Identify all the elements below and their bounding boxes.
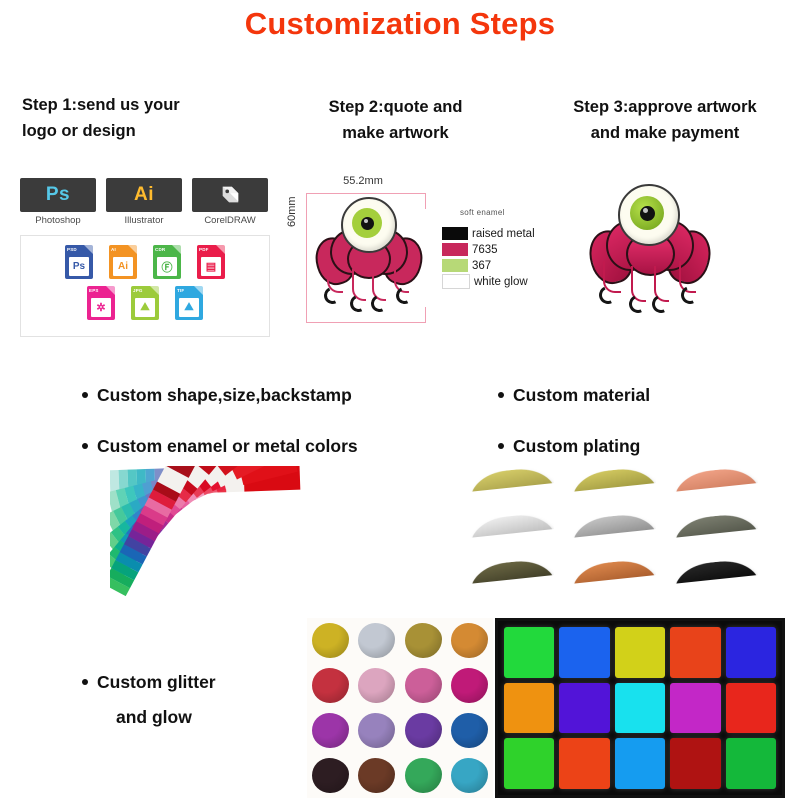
step-2-heading-line1: Step 2:quote and [329,98,463,116]
glitter-cell [400,708,447,753]
glitter-cell [354,663,401,708]
ai-tag: AI [111,247,116,252]
glitter-blob [405,623,442,658]
bullet-dot-icon [498,392,504,398]
page-title: Customization Steps [0,6,800,42]
tif-file-icon: TIF ⛰ [175,286,203,320]
psd-glyph: Ps [69,257,89,276]
plating-swatch-black-nickel [673,558,760,597]
photoshop-label: Photoshop [20,215,96,226]
glow-cell [559,738,609,789]
plating-sample-grid [470,470,770,610]
pin-eye-highlight [643,208,648,213]
glow-cell [726,683,776,734]
file-format-box: PSD Ps AI Ai CDR Ⓕ PDF ▤ [20,235,270,337]
glitter-cell [447,753,494,798]
artwork-width-label: 55.2mm [308,175,418,187]
bullet-dot-icon [82,679,88,685]
glitter-blob [451,623,488,658]
legend-row-7635: 7635 [442,242,552,257]
feature-bullet-plating: Custom plating [498,436,640,457]
pin-foot-2 [626,292,649,315]
eps-file-icon: EPS ✲ [87,286,115,320]
legend-label-white-glow: white glow [474,276,528,288]
plating-swatch-gold [469,466,556,505]
psd-tag: PSD [67,247,77,252]
glitter-blob [312,668,349,703]
glitter-cell [400,663,447,708]
legend-swatch-7635 [442,243,468,256]
feature-bullet-material: Custom material [498,385,650,406]
legend-swatch-raised-metal [442,227,468,240]
glitter-cell [307,663,354,708]
glitter-cell [307,753,354,798]
legend-swatch-white-glow [442,274,470,289]
plating-swatch-brass [571,466,658,505]
enamel-color-legend: soft enamel raised metal 7635 367 white … [442,208,552,290]
psd-fold-corner [84,245,93,254]
jpg-fold-corner [150,286,159,295]
glitter-blob [405,713,442,748]
octopus-eye-artwork [314,195,420,315]
plating-swatch-antique-gold [469,558,556,597]
bullet-dot-icon [498,443,504,449]
photoshop-glyph: Ps [46,184,70,206]
illustrator-label: Illustrator [106,215,182,226]
glitter-blob [358,668,395,703]
bullet-dot-icon [82,392,88,398]
jpg-file-icon: JPG ⛰ [131,286,159,320]
coreldraw-pen-nib-icon [192,178,268,212]
glitter-blob [451,758,488,793]
legend-label-367: 367 [472,260,491,272]
glitter-blob [451,713,488,748]
pdf-tag: PDF [199,247,209,252]
glitter-cell [400,618,447,663]
glitter-cell [354,618,401,663]
jpg-tag: JPG [133,288,143,293]
pantone-color-fan [110,466,310,616]
eye-highlight [364,219,368,223]
design-software-panel: Ps Photoshop Ai Illustrator [20,178,270,343]
step-1-heading-line2: logo or design [22,119,257,145]
step-2-heading: Step 2:quote and make artwork [288,95,503,146]
glow-cell [504,627,554,678]
foot-3 [369,293,391,315]
bullet-dot-icon [82,443,88,449]
feature-label-4: Custom plating [513,436,640,456]
ai-fold-corner [128,245,137,254]
ai-file-icon: AI Ai [109,245,137,279]
pdf-glyph: ▤ [201,257,221,276]
glitter-cell [354,753,401,798]
glow-cell [615,738,665,789]
legend-label-7635: 7635 [472,244,498,256]
pdf-file-icon: PDF ▤ [197,245,225,279]
eps-fold-corner [106,286,115,295]
cdr-file-icon: CDR Ⓕ [153,245,181,279]
glitter-cell [447,708,494,753]
glitter-cell [307,618,354,663]
glow-cell [670,738,720,789]
plating-swatch-rose-gold [673,466,760,505]
tif-glyph: ⛰ [179,298,199,317]
legend-row-367: 367 [442,258,552,273]
finished-pin-artwork [588,182,708,318]
file-format-row-1: PSD Ps AI Ai CDR Ⓕ PDF ▤ [21,236,269,279]
step-3-heading: Step 3:approve artwork and make payment [540,95,790,146]
glitter-blob [312,758,349,793]
glitter-blob [358,758,395,793]
tif-fold-corner [194,286,203,295]
jpg-glyph: ⛰ [135,298,155,317]
plating-swatch-copper [571,558,658,597]
glitter-blob [312,623,349,658]
app-coreldraw: CorelDRAW [192,178,268,226]
artwork-height-label: 60mm [286,196,298,227]
app-photoshop: Ps Photoshop [20,178,96,226]
glitter-cell [400,753,447,798]
glitter-blob [358,713,395,748]
photoshop-icon: Ps [20,178,96,212]
eps-glyph: ✲ [91,298,111,317]
glow-cell [670,683,720,734]
plating-swatch-antique-brass [673,512,760,551]
step-2-heading-line2: make artwork [288,121,503,147]
software-app-row: Ps Photoshop Ai Illustrator [20,178,270,226]
pin-foot-3 [649,292,672,315]
glitter-blob [451,668,488,703]
feature-label-5-line2: and glow [116,707,216,728]
feature-label-1: Custom shape,size,backstamp [97,385,352,405]
pen-nib-glyph [219,184,241,206]
artwork-with-dimensions: 55.2mm 60mm [290,175,440,335]
glow-cell [615,627,665,678]
glitter-cell [307,708,354,753]
glow-cell [726,738,776,789]
glitter-cell [447,618,494,663]
psd-file-icon: PSD Ps [65,245,93,279]
glitter-cell [447,663,494,708]
illustrator-glyph: Ai [134,184,154,206]
glitter-blob [312,713,349,748]
step-3-heading-line1: Step 3:approve artwork [573,98,756,116]
feature-bullet-shape-size-backstamp: Custom shape,size,backstamp [82,385,352,406]
legend-row-white-glow: white glow [442,274,552,289]
feature-label-5-line1: Custom glitter [97,672,216,692]
legend-label-raised-metal: raised metal [472,228,535,240]
glow-cell [670,627,720,678]
coreldraw-label: CorelDRAW [192,215,268,226]
foot-2 [348,293,370,315]
glow-cell [504,738,554,789]
glow-cell [559,627,609,678]
glitter-cell [354,708,401,753]
app-illustrator: Ai Illustrator [106,178,182,226]
glitter-powder-grid [307,618,493,798]
eps-tag: EPS [89,288,99,293]
cdr-glyph: Ⓕ [157,257,177,276]
glow-cell [726,627,776,678]
cdr-fold-corner [172,245,181,254]
tif-tag: TIF [177,288,184,293]
pdf-fold-corner [216,245,225,254]
glow-in-dark-grid [495,618,785,798]
step-1-heading: Step 1:send us your logo or design [22,93,257,144]
plating-swatch-shiny-silver [469,512,556,551]
glitter-blob [358,623,395,658]
legend-swatch-367 [442,259,468,272]
cdr-tag: CDR [155,247,165,252]
plating-swatch-nickel [571,512,658,551]
feature-label-2: Custom enamel or metal colors [97,436,358,456]
glitter-blob [405,758,442,793]
glow-cell [504,683,554,734]
customization-steps-poster: Customization Steps Step 1:send us your … [0,0,800,800]
step-1-heading-line1: Step 1:send us your [22,96,180,114]
illustrator-icon: Ai [106,178,182,212]
ai-glyph: Ai [113,257,133,276]
legend-title: soft enamel [460,208,552,217]
feature-bullet-glitter-glow: Custom glitter and glow [82,672,216,728]
glow-cell [559,683,609,734]
feature-label-3: Custom material [513,385,650,405]
glitter-blob [405,668,442,703]
glow-cell [615,683,665,734]
step-3-heading-line2: and make payment [540,121,790,147]
file-format-row-2: EPS ✲ JPG ⛰ TIF ⛰ [21,279,269,320]
feature-bullet-enamel-metal-colors: Custom enamel or metal colors [82,436,358,457]
legend-row-raised-metal: raised metal [442,226,552,241]
